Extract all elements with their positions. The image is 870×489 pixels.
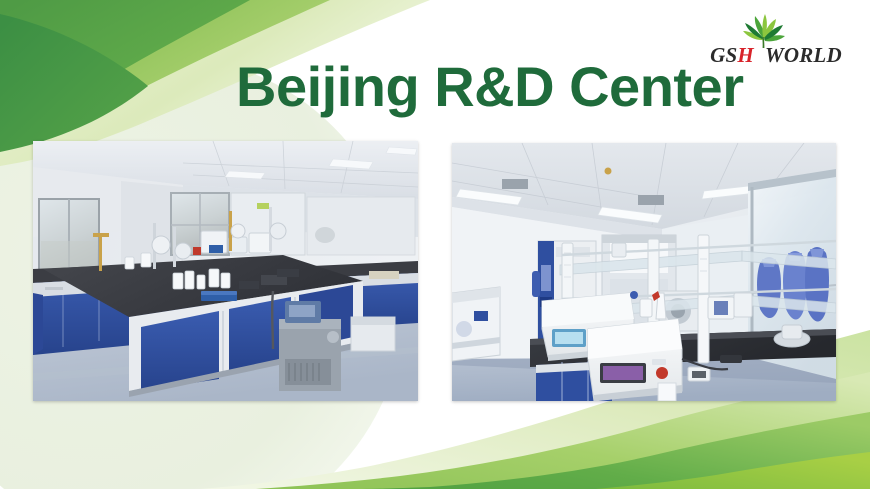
- wave-4: [596, 452, 870, 489]
- wave-3: [362, 412, 870, 489]
- logo-wordmark: GSHWORLD: [706, 42, 846, 68]
- photo-right-illustration: [452, 143, 836, 401]
- slide-canvas: Beijing R&D Center GSHWORLD: [0, 0, 870, 489]
- logo-text-world: WORLD: [765, 43, 842, 67]
- brand-logo[interactable]: GSHWORLD: [706, 12, 846, 70]
- corner-curve-3: [0, 0, 250, 135]
- photo-left-illustration: [33, 141, 418, 401]
- logo-text-h: H: [737, 43, 754, 67]
- photo-laboratory-instruments: [452, 143, 836, 401]
- logo-text-gs: GS: [710, 43, 737, 67]
- page-title: Beijing R&D Center: [236, 58, 744, 117]
- photo-laboratory-benches: [33, 141, 418, 401]
- corner-curve-4: [0, 14, 148, 152]
